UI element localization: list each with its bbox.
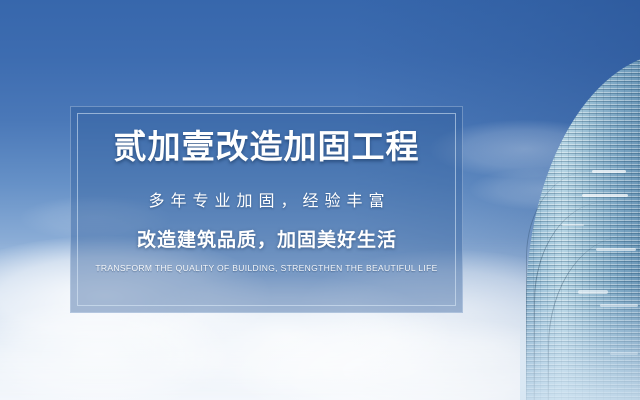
skyscraper-image xyxy=(520,52,640,400)
panel-content: 贰加壹改造加固工程 多年专业加固，经验丰富 改造建筑品质，加固美好生活 TRAN… xyxy=(71,129,462,273)
text-panel: 贰加壹改造加固工程 多年专业加固，经验丰富 改造建筑品质，加固美好生活 TRAN… xyxy=(70,106,463,313)
window-reflection-streak xyxy=(562,224,584,226)
promotional-banner: 贰加壹改造加固工程 多年专业加固，经验丰富 改造建筑品质，加固美好生活 TRAN… xyxy=(0,0,640,400)
window-reflection-streak xyxy=(592,170,626,173)
skyscraper-base-haze xyxy=(520,280,640,400)
window-reflection-streak xyxy=(582,194,628,197)
headline: 贰加壹改造加固工程 xyxy=(71,129,462,166)
subheadline-secondary: 改造建筑品质，加固美好生活 xyxy=(71,225,462,252)
window-reflection-streak xyxy=(596,248,636,251)
subheadline-primary: 多年专业加固，经验丰富 xyxy=(71,187,462,211)
english-tagline: TRANSFORM THE QUALITY OF BUILDING, STREN… xyxy=(71,263,462,273)
